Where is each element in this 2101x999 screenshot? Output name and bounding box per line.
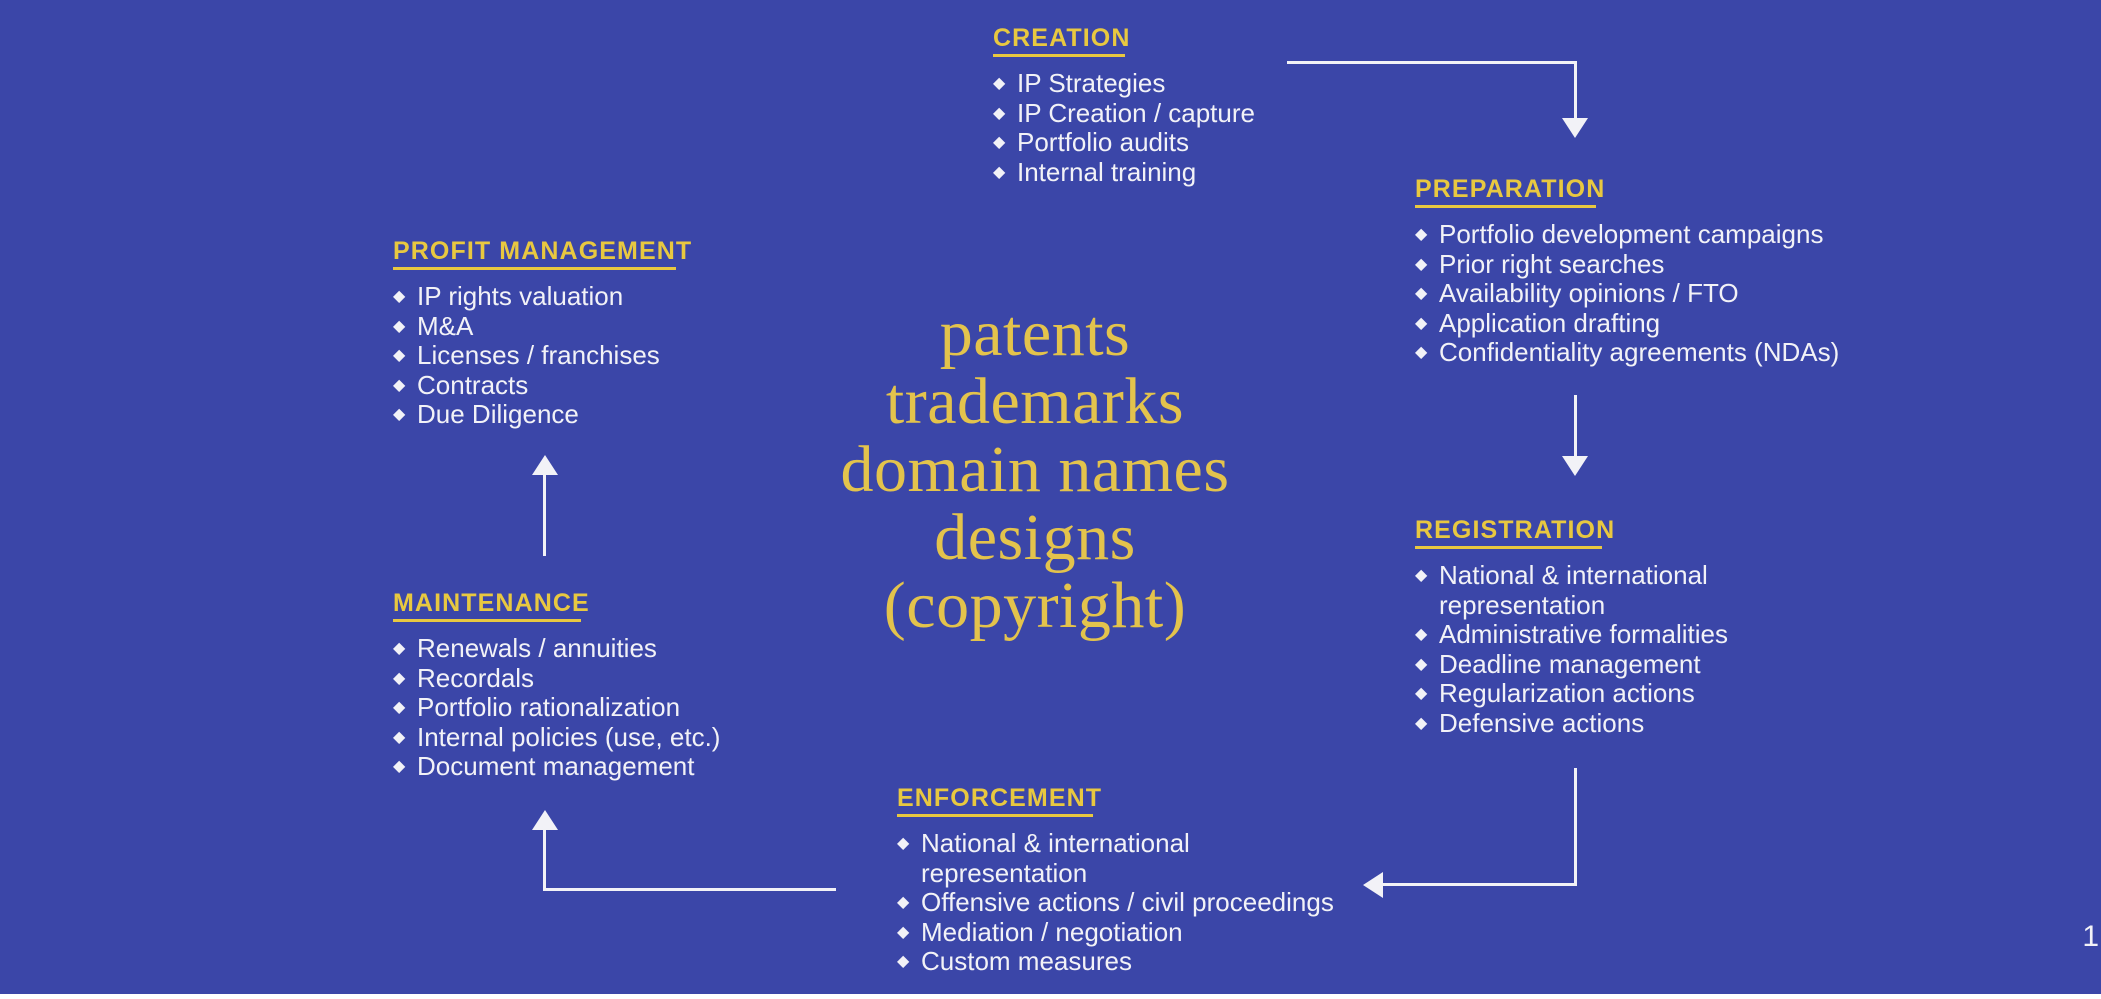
diamond-bullet-icon: ◆ xyxy=(1415,250,1427,280)
center-title-line-5: (copyright) xyxy=(780,572,1290,640)
block-preparation-list: ◆Portfolio development campaigns ◆Prior … xyxy=(1415,220,1885,368)
list-item-label: Contracts xyxy=(417,370,528,400)
list-item-label: Application drafting xyxy=(1439,308,1660,338)
list-item: ◆Portfolio rationalization xyxy=(393,693,753,723)
list-item: ◆Document management xyxy=(393,752,753,782)
arrow-head-up-icon xyxy=(532,455,558,475)
list-item: ◆Recordals xyxy=(393,664,753,694)
diamond-bullet-icon: ◆ xyxy=(993,69,1005,99)
diamond-bullet-icon: ◆ xyxy=(1415,309,1427,339)
center-title-line-3: domain names xyxy=(780,436,1290,504)
list-item: ◆Custom measures xyxy=(897,947,1357,977)
block-registration-heading: REGISTRATION xyxy=(1415,518,1615,543)
list-item-label: Administrative formalities xyxy=(1439,619,1728,649)
list-item-label: National & international representation xyxy=(1439,560,1708,620)
center-title-line-1: patents xyxy=(780,300,1290,368)
list-item: ◆Portfolio development campaigns xyxy=(1415,220,1885,250)
list-item-label: Defensive actions xyxy=(1439,708,1644,738)
block-maintenance-heading-underline xyxy=(393,619,581,622)
block-creation-heading: CREATION xyxy=(993,26,1131,51)
diamond-bullet-icon: ◆ xyxy=(993,128,1005,158)
arrow-vertical-segment xyxy=(1574,61,1577,121)
diamond-bullet-icon: ◆ xyxy=(1415,220,1427,250)
arrow-vertical-segment xyxy=(1574,768,1577,886)
diamond-bullet-icon: ◆ xyxy=(993,158,1005,188)
block-preparation-heading: PREPARATION xyxy=(1415,177,1605,202)
list-item: ◆Internal policies (use, etc.) xyxy=(393,723,753,753)
list-item: ◆Due Diligence xyxy=(393,400,733,430)
list-item-label: Recordals xyxy=(417,663,534,693)
diamond-bullet-icon: ◆ xyxy=(393,400,405,430)
list-item-label: Licenses / franchises xyxy=(417,340,660,370)
list-item: ◆Confidentiality agreements (NDAs) xyxy=(1415,338,1885,368)
diamond-bullet-icon: ◆ xyxy=(1415,561,1427,591)
block-maintenance-heading: MAINTENANCE xyxy=(393,591,590,616)
list-item-label: Mediation / negotiation xyxy=(921,917,1183,947)
list-item: ◆Availability opinions / FTO xyxy=(1415,279,1885,309)
diamond-bullet-icon: ◆ xyxy=(393,341,405,371)
diamond-bullet-icon: ◆ xyxy=(1415,620,1427,650)
list-item: ◆Portfolio audits xyxy=(993,128,1393,158)
list-item-label: Regularization actions xyxy=(1439,678,1695,708)
list-item: ◆Mediation / negotiation xyxy=(897,918,1357,948)
diamond-bullet-icon: ◆ xyxy=(393,664,405,694)
diamond-bullet-icon: ◆ xyxy=(1415,279,1427,309)
diamond-bullet-icon: ◆ xyxy=(1415,709,1427,739)
arrow-head-down-icon xyxy=(1562,118,1588,138)
block-profit-management-list: ◆IP rights valuation ◆M&A ◆Licenses / fr… xyxy=(393,282,733,430)
slide-canvas: patents trademarks domain names designs … xyxy=(0,0,2101,999)
diamond-bullet-icon: ◆ xyxy=(393,634,405,664)
list-item: ◆Prior right searches xyxy=(1415,250,1885,280)
center-title: patents trademarks domain names designs … xyxy=(780,300,1290,640)
list-item-label: National & international representation xyxy=(921,828,1190,888)
list-item-label: Portfolio rationalization xyxy=(417,692,680,722)
list-item-label: IP Strategies xyxy=(1017,68,1165,98)
block-maintenance-list: ◆Renewals / annuities ◆Recordals ◆Portfo… xyxy=(393,634,753,782)
list-item-label: Prior right searches xyxy=(1439,249,1664,279)
arrow-head-down-icon xyxy=(1562,456,1588,476)
list-item: ◆IP rights valuation xyxy=(393,282,733,312)
center-title-line-2: trademarks xyxy=(780,368,1290,436)
block-profit-management: PROFIT MANAGEMENT ◆IP rights valuation ◆… xyxy=(393,239,733,430)
list-item-label: Confidentiality agreements (NDAs) xyxy=(1439,337,1839,367)
bottom-white-strip xyxy=(0,994,2101,999)
list-item-label: IP rights valuation xyxy=(417,281,623,311)
list-item: ◆Contracts xyxy=(393,371,733,401)
list-item: ◆Defensive actions xyxy=(1415,709,1815,739)
diamond-bullet-icon: ◆ xyxy=(393,282,405,312)
diamond-bullet-icon: ◆ xyxy=(393,693,405,723)
block-enforcement-heading: ENFORCEMENT xyxy=(897,786,1102,811)
list-item-label: Due Diligence xyxy=(417,399,579,429)
block-creation: CREATION ◆IP Strategies ◆IP Creation / c… xyxy=(993,26,1393,187)
block-maintenance: MAINTENANCE ◆Renewals / annuities ◆Recor… xyxy=(393,591,753,782)
list-item: ◆National & international representation xyxy=(1415,561,1815,620)
list-item-label: Internal training xyxy=(1017,157,1196,187)
block-profit-management-heading-underline xyxy=(393,267,676,270)
list-item: ◆IP Strategies xyxy=(993,69,1393,99)
block-preparation: PREPARATION ◆Portfolio development campa… xyxy=(1415,177,1885,368)
diamond-bullet-icon: ◆ xyxy=(393,312,405,342)
list-item-label: IP Creation / capture xyxy=(1017,98,1255,128)
list-item: ◆Internal training xyxy=(993,158,1393,188)
diamond-bullet-icon: ◆ xyxy=(393,752,405,782)
block-creation-heading-underline xyxy=(993,54,1125,57)
arrow-horizontal-segment xyxy=(543,888,836,891)
center-title-line-4: designs xyxy=(780,504,1290,572)
list-item-label: Portfolio development campaigns xyxy=(1439,219,1823,249)
diamond-bullet-icon: ◆ xyxy=(993,99,1005,129)
diamond-bullet-icon: ◆ xyxy=(1415,679,1427,709)
list-item: ◆M&A xyxy=(393,312,733,342)
diamond-bullet-icon: ◆ xyxy=(897,947,909,977)
block-registration-list: ◆National & international representation… xyxy=(1415,561,1815,738)
list-item-label: M&A xyxy=(417,311,473,341)
list-item-label: Renewals / annuities xyxy=(417,633,657,663)
diamond-bullet-icon: ◆ xyxy=(393,371,405,401)
block-registration-heading-underline xyxy=(1415,546,1602,549)
list-item: ◆Renewals / annuities xyxy=(393,634,753,664)
block-registration: REGISTRATION ◆National & international r… xyxy=(1415,518,1815,738)
list-item-label: Offensive actions / civil proceedings xyxy=(921,887,1334,917)
diamond-bullet-icon: ◆ xyxy=(897,829,909,859)
list-item: ◆IP Creation / capture xyxy=(993,99,1393,129)
list-item-label: Document management xyxy=(417,751,694,781)
block-profit-management-heading: PROFIT MANAGEMENT xyxy=(393,239,692,264)
diamond-bullet-icon: ◆ xyxy=(1415,338,1427,368)
block-enforcement-list: ◆National & international representation… xyxy=(897,829,1357,977)
diamond-bullet-icon: ◆ xyxy=(897,888,909,918)
list-item: ◆Offensive actions / civil proceedings xyxy=(897,888,1357,918)
list-item-label: Availability opinions / FTO xyxy=(1439,278,1739,308)
arrow-vertical-segment xyxy=(1574,395,1577,459)
arrow-head-left-icon xyxy=(1363,872,1383,898)
arrow-vertical-segment xyxy=(543,827,546,891)
list-item-label: Custom measures xyxy=(921,946,1132,976)
list-item-label: Deadline management xyxy=(1439,649,1701,679)
list-item: ◆Administrative formalities xyxy=(1415,620,1815,650)
block-preparation-heading-underline xyxy=(1415,205,1596,208)
block-creation-list: ◆IP Strategies ◆IP Creation / capture ◆P… xyxy=(993,69,1393,187)
list-item: ◆Deadline management xyxy=(1415,650,1815,680)
arrow-head-up-icon xyxy=(532,810,558,830)
block-enforcement: ENFORCEMENT ◆National & international re… xyxy=(897,786,1357,977)
list-item-label: Internal policies (use, etc.) xyxy=(417,722,720,752)
list-item-label: Portfolio audits xyxy=(1017,127,1189,157)
list-item: ◆Regularization actions xyxy=(1415,679,1815,709)
diamond-bullet-icon: ◆ xyxy=(897,918,909,948)
diamond-bullet-icon: ◆ xyxy=(1415,650,1427,680)
diamond-bullet-icon: ◆ xyxy=(393,723,405,753)
list-item: ◆Licenses / franchises xyxy=(393,341,733,371)
arrow-vertical-segment xyxy=(543,472,546,556)
list-item: ◆National & international representation xyxy=(897,829,1357,888)
block-enforcement-heading-underline xyxy=(897,814,1093,817)
arrow-horizontal-segment xyxy=(1287,61,1577,64)
list-item: ◆Application drafting xyxy=(1415,309,1885,339)
page-number: 1 xyxy=(2082,920,2099,954)
arrow-horizontal-segment xyxy=(1380,883,1577,886)
